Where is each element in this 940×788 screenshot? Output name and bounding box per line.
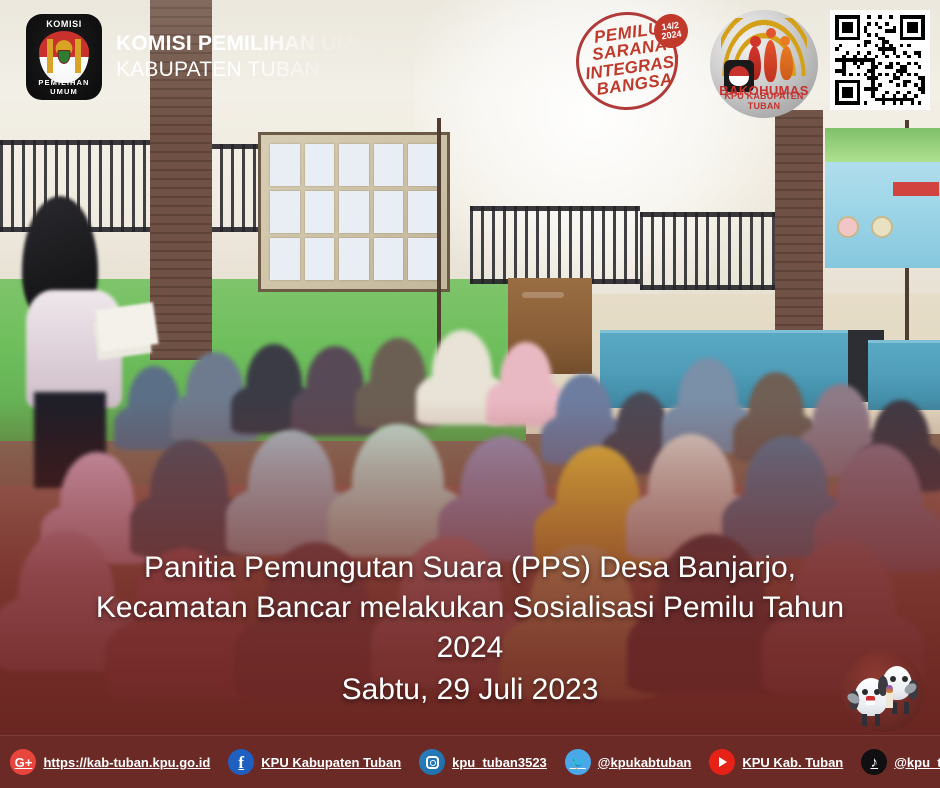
emblem-ring-top-label: KOMISI xyxy=(26,19,102,29)
sura-sulu-mascot-icon xyxy=(842,650,924,732)
footer-link-facebook[interactable]: f KPU Kabupaten Tuban xyxy=(228,749,401,775)
bakohumas-subtitle: KPU KABUPATEN TUBAN xyxy=(710,91,818,111)
caption-block: Panitia Pemungutan Suara (PPS) Desa Banj… xyxy=(0,548,940,710)
footer-label-website: https://kab-tuban.kpu.go.id xyxy=(43,755,210,770)
header-title-line2: KABUPATEN TUBAN xyxy=(116,59,387,82)
caption-line1: Panitia Pemungutan Suara (PPS) Desa Banj… xyxy=(18,548,922,588)
facebook-icon: f xyxy=(228,749,254,775)
footer-label-facebook: KPU Kabupaten Tuban xyxy=(261,755,401,770)
footer-label-instagram: kpu_tuban3523 xyxy=(452,755,547,770)
footer-link-website[interactable]: G+ https://kab-tuban.kpu.go.id xyxy=(10,749,210,775)
caption-date: Sabtu, 29 Juli 2023 xyxy=(18,670,922,710)
bakohumas-logo-icon: BAKOHUMAS KPU KABUPATEN TUBAN xyxy=(710,10,818,118)
instagram-icon xyxy=(419,749,445,775)
twitter-icon: 🐦 xyxy=(565,749,591,775)
footer-label-twitter: @kpukabtuban xyxy=(598,755,692,770)
poster: KOMISI PEMILIHAN UMUM KOMISI PEMILIHAN U… xyxy=(0,0,940,788)
footer-link-youtube[interactable]: KPU Kab. Tuban xyxy=(709,749,843,775)
footer-link-tiktok[interactable]: ♪ @kpu_tuban3523 xyxy=(861,749,940,775)
qr-code-icon[interactable] xyxy=(830,10,930,110)
caption-line2: Kecamatan Bancar melakukan Sosialisasi P… xyxy=(18,588,922,628)
footer-label-tiktok: @kpu_tuban3523 xyxy=(894,755,940,770)
social-footer: G+ https://kab-tuban.kpu.go.id f KPU Kab… xyxy=(0,735,940,788)
emblem-ring-bottom-label: PEMILIHAN UMUM xyxy=(26,78,102,96)
footer-link-instagram[interactable]: kpu_tuban3523 xyxy=(419,749,547,775)
google-plus-icon: G+ xyxy=(10,749,36,775)
caption-line3: 2024 xyxy=(18,628,922,668)
tiktok-icon: ♪ xyxy=(861,749,887,775)
youtube-icon xyxy=(709,749,735,775)
header-title-line1: KOMISI PEMILIHAN UMUM xyxy=(116,33,387,56)
pemilu-stamp-icon: PEMILU SARANA INTEGRASI BANGSA 14/2 2024 xyxy=(572,8,690,116)
header-brand: KOMISI PEMILIHAN UMUM KOMISI PEMILIHAN U… xyxy=(26,14,387,100)
header-title-block: KOMISI PEMILIHAN UMUM KABUPATEN TUBAN xyxy=(116,33,387,81)
stamp-date-year: 2024 xyxy=(661,30,682,42)
footer-label-youtube: KPU Kab. Tuban xyxy=(742,755,843,770)
kpu-emblem-icon: KOMISI PEMILIHAN UMUM xyxy=(26,14,102,100)
footer-link-twitter[interactable]: 🐦 @kpukabtuban xyxy=(565,749,692,775)
